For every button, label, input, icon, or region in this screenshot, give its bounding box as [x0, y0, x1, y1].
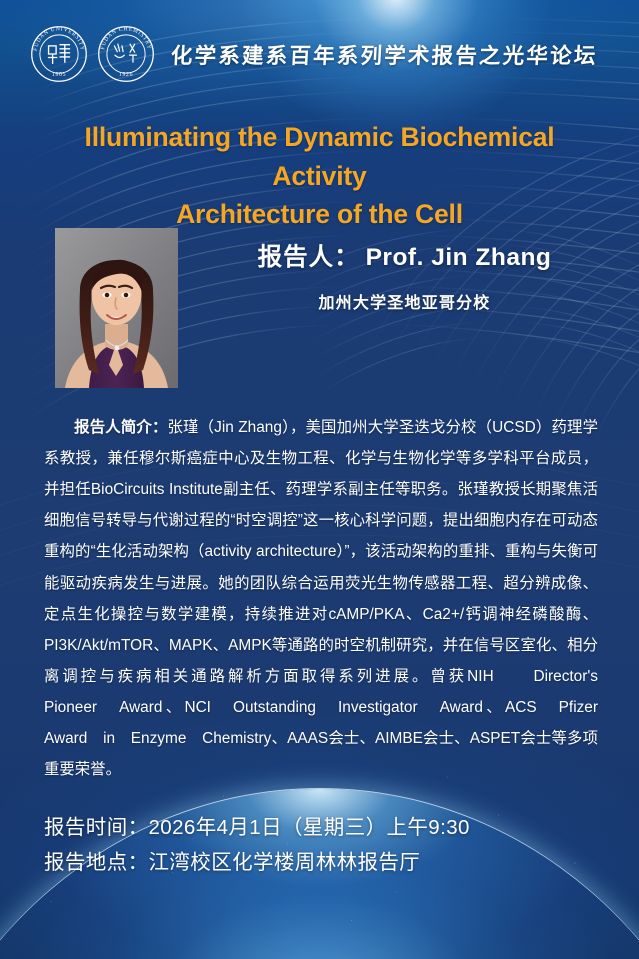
speaker-label: 报告人：: [258, 244, 360, 271]
title-line-1: Illuminating the Dynamic Biochemical Act…: [38, 118, 601, 195]
fudan-chemistry-seal-icon: FUDAN CHEMISTRY 1926: [97, 25, 155, 83]
event-location-value: 江湾校区化学楼周林林报告厅: [149, 851, 421, 874]
svg-text:1926: 1926: [119, 72, 133, 78]
event-time-value: 2026年4月1日（星期三）上午9:30: [149, 816, 470, 839]
event-location-label: 报告地点：: [44, 851, 149, 874]
speaker-info: 报告人：Prof. Jin Zhang 加州大学圣地亚哥分校: [190, 238, 619, 313]
speaker-name: Prof. Jin Zhang: [366, 244, 552, 271]
speaker-affiliation: 加州大学圣地亚哥分校: [190, 289, 619, 313]
event-details: 报告时间：2026年4月1日（星期三）上午9:30 报告地点：江湾校区化学楼周林…: [44, 810, 470, 881]
bio-text: 张瑾（Jin Zhang），美国加州大学圣迭戈分校（UCSD）药理学系教授，兼任…: [44, 419, 629, 778]
speaker-photo: [55, 228, 178, 388]
lecture-title: Illuminating the Dynamic Biochemical Act…: [38, 118, 601, 234]
poster-header: FUDAN UNIVERSITY 1905 FUDAN C: [0, 0, 639, 108]
speaker-bio: 报告人简介：张瑾（Jin Zhang），美国加州大学圣迭戈分校（UCSD）药理学…: [44, 412, 598, 785]
fudan-university-seal-icon: FUDAN UNIVERSITY 1905: [30, 25, 88, 83]
event-time-row: 报告时间：2026年4月1日（星期三）上午9:30: [44, 810, 470, 845]
event-time-label: 报告时间：: [44, 816, 149, 839]
speaker-name-line: 报告人：Prof. Jin Zhang: [190, 238, 619, 273]
seminar-poster: FUDAN UNIVERSITY 1905 FUDAN C: [0, 0, 639, 959]
svg-text:1905: 1905: [52, 72, 66, 78]
event-location-row: 报告地点：江湾校区化学楼周林林报告厅: [44, 845, 470, 880]
header-banner-text: 化学系建系百年系列学术报告之光华论坛: [170, 39, 598, 70]
speaker-section: 报告人：Prof. Jin Zhang 加州大学圣地亚哥分校: [0, 228, 639, 390]
bio-label: 报告人简介：: [74, 419, 168, 436]
seal-group: FUDAN UNIVERSITY 1905 FUDAN C: [30, 25, 155, 83]
